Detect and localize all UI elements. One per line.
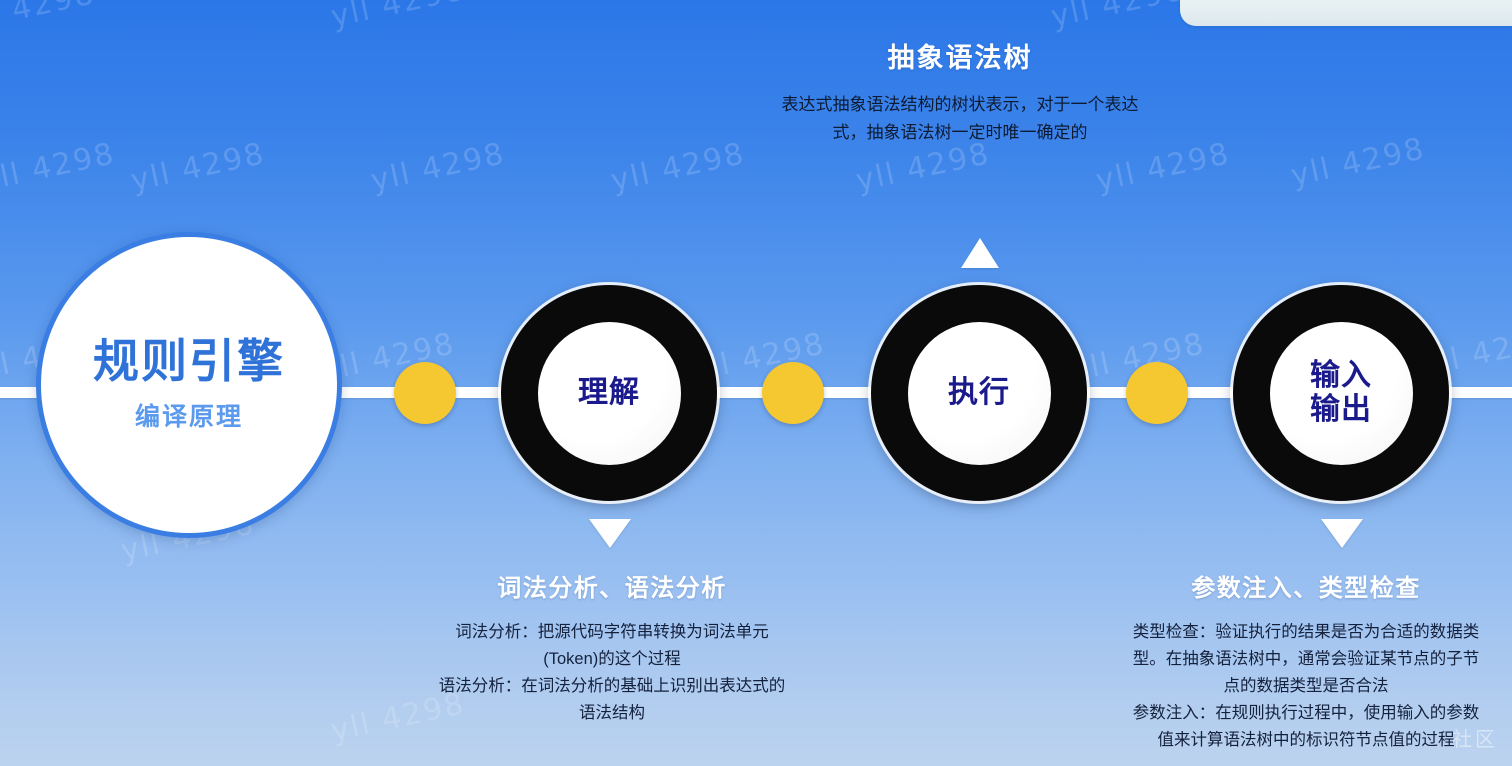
node-label: 理解 [578,376,640,410]
stage-node-execute: 执行 [871,285,1087,501]
connector-dot [762,362,824,424]
callout-io-title: 参数注入、类型检查 [1100,568,1512,603]
page-subtitle: 编译原理 [135,397,243,433]
top-right-panel [1180,0,1512,26]
watermark-text: yll 4298 [368,136,509,199]
callout-line: 表达式抽象语法结构的树状表示，对于一个表达 [740,91,1180,119]
infographic-canvas: yll 4298 yll 4298 yll 4298 yll 4298 yll … [0,0,1512,766]
connector-dot [394,362,456,424]
node-label: 执行 [948,376,1010,410]
stage-node-understand: 理解 [501,285,717,501]
watermark-text: yll 4298 [328,0,469,35]
callout-line: 式，抽象语法树一定时唯一确定的 [740,119,1180,147]
page-title: 规则引擎 [93,337,285,385]
callout-line: (Token)的这个过程 [400,646,824,673]
node-inner-disc: 执行 [908,322,1051,465]
callout-lexical-body: 词法分析：把源代码字符串转换为词法单元 (Token)的这个过程 语法分析：在词… [400,619,824,727]
callout-line: 型。在抽象语法树中，通常会验证某节点的子节 [1100,646,1512,673]
watermark-text: yll 4298 [1288,131,1429,194]
callout-line: 语法结构 [400,700,824,727]
callout-line: 类型检查：验证执行的结果是否为合适的数据类 [1100,619,1512,646]
triangle-down-icon [589,519,631,548]
callout-line: 词法分析：把源代码字符串转换为词法单元 [400,619,824,646]
callout-ast: 抽象语法树 表达式抽象语法结构的树状表示，对于一个表达 式，抽象语法树一定时唯一… [740,36,1180,146]
node-label: 输入 输出 [1310,359,1372,426]
callout-line: 值来计算语法树中的标识符节点值的过程 [1100,727,1512,754]
callout-line: 点的数据类型是否合法 [1100,673,1512,700]
callout-line: 参数注入：在规则执行过程中，使用输入的参数 [1100,700,1512,727]
callout-lexical-title: 词法分析、语法分析 [400,568,824,603]
node-inner-disc: 理解 [538,322,681,465]
callout-lexical: 词法分析、语法分析 词法分析：把源代码字符串转换为词法单元 (Token)的这个… [400,568,824,727]
callout-io: 参数注入、类型检查 类型检查：验证执行的结果是否为合适的数据类 型。在抽象语法树… [1100,568,1512,753]
node-inner-disc: 输入 输出 [1270,322,1413,465]
callout-ast-body: 表达式抽象语法结构的树状表示，对于一个表达 式，抽象语法树一定时唯一确定的 [740,91,1180,146]
callout-ast-title: 抽象语法树 [740,36,1180,75]
watermark-text: yll 4298 [0,0,98,39]
stage-node-io: 输入 输出 [1233,285,1449,501]
connector-dot [1126,362,1188,424]
callout-io-body: 类型检查：验证执行的结果是否为合适的数据类 型。在抽象语法树中，通常会验证某节点… [1100,619,1512,753]
callout-line: 语法分析：在词法分析的基础上识别出表达式的 [400,673,824,700]
watermark-text: yll 4298 [0,136,118,199]
hero-circle: 规则引擎 编译原理 [36,232,342,538]
triangle-up-icon [961,238,999,268]
watermark-text: yll 4298 [1048,0,1189,35]
corner-watermark: 社区 [1452,723,1498,752]
triangle-down-icon [1321,519,1363,548]
watermark-text: yll 4298 [608,136,749,199]
watermark-text: yll 4298 [128,136,269,199]
